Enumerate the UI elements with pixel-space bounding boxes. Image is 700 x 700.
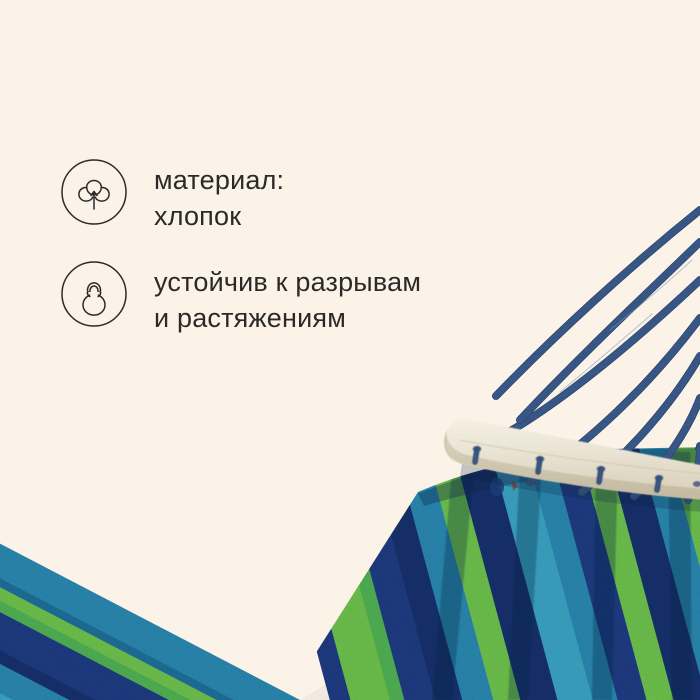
feature-label-material: материал: хлопок [154,158,284,234]
product-feature-card: материал: хлопок устойчив к разрывам и р… [0,0,700,700]
cotton-boll-icon [60,158,128,226]
feature-list: материал: хлопок устойчив к разрывам и р… [60,158,530,362]
feature-item-durability: устойчив к разрывам и растяжениям [60,260,530,336]
kettlebell-icon [60,260,128,328]
feature-label-durability: устойчив к разрывам и растяжениям [154,260,421,336]
feature-item-material: материал: хлопок [60,158,530,234]
